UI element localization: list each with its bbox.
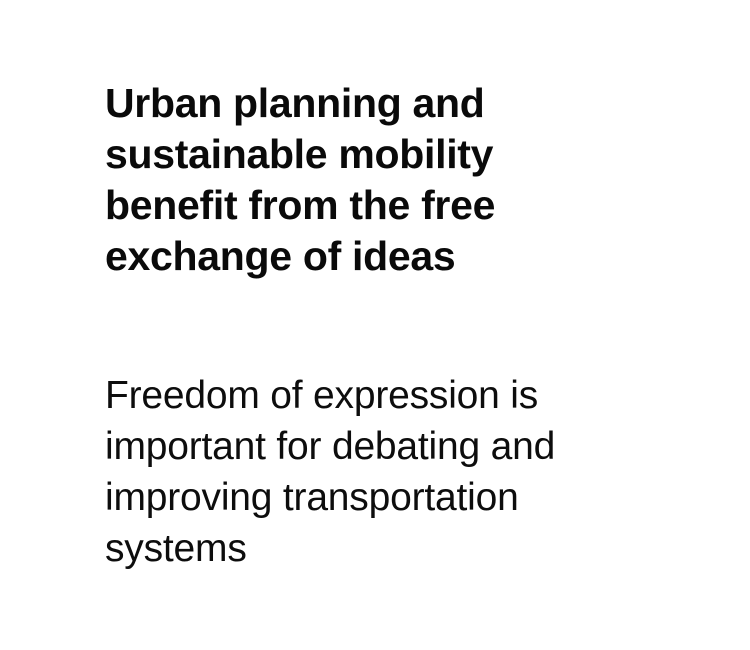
page-title: Urban planning and sustainable mobility …: [105, 78, 530, 282]
slide-canvas: Urban planning and sustainable mobility …: [0, 0, 750, 650]
text-block: Urban planning and sustainable mobility …: [105, 78, 705, 574]
page-subtitle: Freedom of expression is important for d…: [105, 370, 635, 574]
